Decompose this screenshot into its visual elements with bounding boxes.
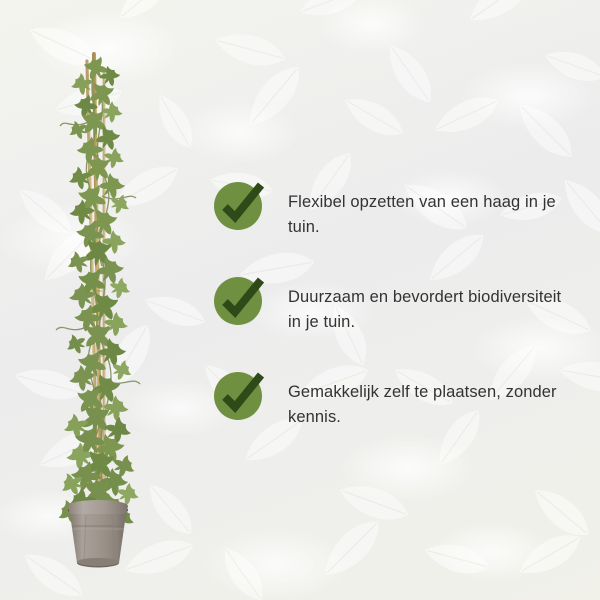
- ivy-foliage-upper: [68, 56, 129, 239]
- check-circle-icon: [212, 178, 266, 232]
- check-circle-icon: [212, 368, 266, 422]
- feature-item: Duurzaam en bevordert biodiversiteit in …: [212, 273, 564, 335]
- feature-text: Duurzaam en bevordert biodiversiteit in …: [288, 273, 564, 335]
- feature-text: Gemakkelijk zelf te plaatsen, zonder ken…: [288, 368, 564, 430]
- check-circle-icon: [212, 273, 266, 327]
- feature-item: Flexibel opzetten van een haag in je tui…: [212, 178, 564, 240]
- feature-text: Flexibel opzetten van een haag in je tui…: [288, 178, 564, 240]
- product-feature-card: Flexibel opzetten van een haag in je tui…: [0, 0, 600, 600]
- feature-item: Gemakkelijk zelf te plaatsen, zonder ken…: [212, 368, 564, 430]
- feature-list: Flexibel opzetten van een haag in je tui…: [212, 178, 564, 430]
- ivy-plant-image: [24, 26, 174, 571]
- plant-pot: [68, 500, 128, 568]
